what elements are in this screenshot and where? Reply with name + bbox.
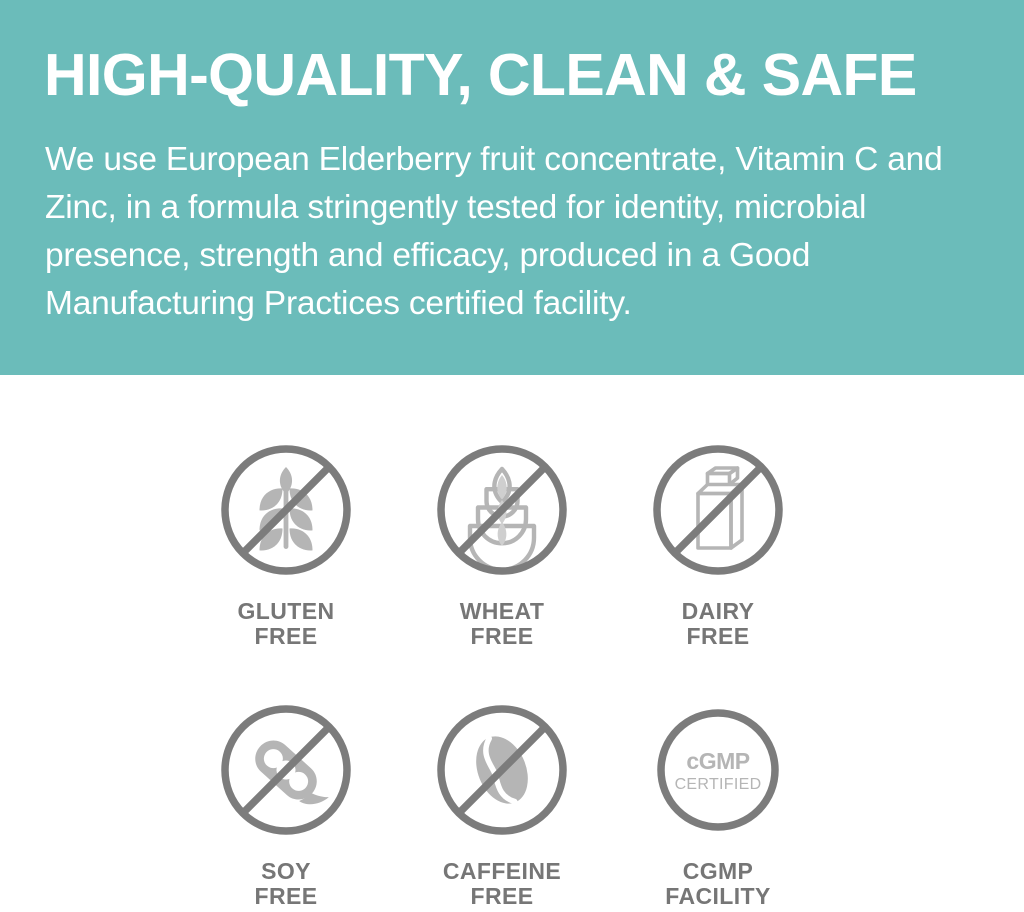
certification-badge-grid: GLUTEN FREE xyxy=(0,375,1024,912)
badge-label: WHEAT FREE xyxy=(394,577,610,649)
badge-label: CAFFEINE FREE xyxy=(394,837,610,909)
cgmp-certified-icon: cGMP CERTIFIED xyxy=(651,703,785,837)
badge-label: CGMP FACILITY xyxy=(610,837,826,909)
badge-caffeine-free: CAFFEINE FREE xyxy=(394,703,610,909)
page-title: HIGH-QUALITY, CLEAN & SAFE xyxy=(44,44,917,106)
no-dairy-icon xyxy=(651,443,785,577)
cgmp-badge-top-text: cGMP xyxy=(686,748,749,774)
badge-dairy-free: DAIRY FREE xyxy=(610,443,826,649)
badge-label: SOY FREE xyxy=(178,837,394,909)
no-soy-icon xyxy=(219,703,353,837)
badge-label: DAIRY FREE xyxy=(610,577,826,649)
no-wheat-icon xyxy=(435,443,569,577)
hero-banner: HIGH-QUALITY, CLEAN & SAFE We use Europe… xyxy=(0,0,1024,375)
no-caffeine-icon xyxy=(435,703,569,837)
hero-description: We use European Elderberry fruit concent… xyxy=(45,136,1005,328)
badge-label: GLUTEN FREE xyxy=(178,577,394,649)
badge-gluten-free: GLUTEN FREE xyxy=(178,443,394,649)
cgmp-badge-bottom-text: CERTIFIED xyxy=(675,776,762,793)
badge-soy-free: SOY FREE xyxy=(178,703,394,909)
badge-cgmp-facility: cGMP CERTIFIED CGMP FACILITY xyxy=(610,703,826,909)
no-gluten-icon xyxy=(219,443,353,577)
badge-wheat-free: WHEAT FREE xyxy=(394,443,610,649)
page-root: HIGH-QUALITY, CLEAN & SAFE We use Europe… xyxy=(0,0,1024,912)
